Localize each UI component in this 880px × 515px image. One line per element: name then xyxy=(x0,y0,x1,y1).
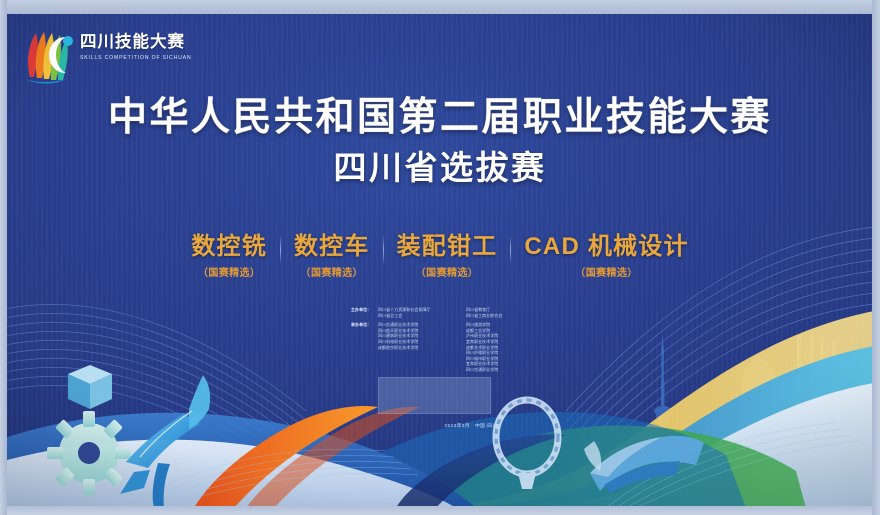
host-block: 主办单位： 四川省人力资源和社会保障厅 四川省总工会 四川省教育厅 四川省工商业… xyxy=(351,307,591,318)
arch-gate-icon xyxy=(741,356,777,489)
category-subtitle: （国赛精选） xyxy=(397,264,498,279)
tv-tower-icon xyxy=(646,333,679,501)
logo-english-name: SKILLS COMPETITION OF SICHUAN xyxy=(80,55,196,61)
cube-icon xyxy=(68,365,112,409)
blank-placeholder-panel xyxy=(378,377,491,414)
organizer-credits: 主办单位： 四川省人力资源和社会保障厅 四川省总工会 四川省教育厅 四川省工商业… xyxy=(351,307,591,377)
org-left-4: 成都航空职业技术学院 xyxy=(378,345,466,351)
sichuan-skills-feather-logo-icon xyxy=(22,23,80,85)
category-name: 装配钳工 xyxy=(397,232,498,261)
host-right-1: 四川省工商业联合会 xyxy=(466,313,554,319)
date-location-line: 2023年3月 中国·四川 xyxy=(351,423,591,429)
category-item-3: CAD 机械设计 （国赛精选） xyxy=(511,232,701,279)
main-title-line2: 四川省选拔赛 xyxy=(6,145,874,191)
organizer-label: 承办单位： xyxy=(351,322,378,372)
photo-frame-left xyxy=(0,0,7,515)
category-item-2: 装配钳工 （国赛精选） xyxy=(384,232,511,279)
skyline-silhouettes xyxy=(646,333,874,501)
wave-lines-bottom xyxy=(126,423,860,508)
host-left-column: 四川省人力资源和社会保障厅 四川省总工会 xyxy=(378,307,466,318)
host-label: 主办单位： xyxy=(351,307,378,318)
event-backdrop-board: 四川技能大赛 SKILLS COMPETITION OF SICHUAN 中华人… xyxy=(6,11,874,508)
category-list: 数控铣 （国赛精选） 数控车 （国赛精选） 装配钳工 （国赛精选） CAD 机械… xyxy=(6,232,874,279)
rocket-shuttle-icon xyxy=(120,375,210,508)
organizer-block: 承办单位： 四川交通职业技术学院 四川航天职业技术学院 四川建筑职业技术学院 四… xyxy=(351,322,591,372)
category-subtitle: （国赛精选） xyxy=(191,264,267,279)
wave-green xyxy=(386,426,806,508)
host-right-column: 四川省教育厅 四川省工商业联合会 xyxy=(466,307,554,318)
category-name: CAD 机械设计 xyxy=(524,232,688,261)
category-item-0: 数控铣 （国赛精选） xyxy=(178,232,280,279)
wave-orange xyxy=(194,406,378,508)
wave-orange-shadow xyxy=(246,407,420,508)
organizer-right-column: 四川旅游学院 成都工业学院 泸州职业技术学院 宜宾职业技术学院 成都艺术职业学院… xyxy=(466,322,554,372)
competition-logo: 四川技能大赛 SKILLS COMPETITION OF SICHUAN xyxy=(22,19,197,89)
category-subtitle: （国赛精选） xyxy=(524,264,688,279)
wave-lines-left xyxy=(6,304,306,492)
organizer-left-column: 四川交通职业技术学院 四川航天职业技术学院 四川建筑职业技术学院 四川机电职业技… xyxy=(378,322,466,372)
cable-stay-bridge-icon xyxy=(766,336,874,471)
wave-white-right xyxy=(486,383,874,508)
logo-text-block: 四川技能大赛 SKILLS COMPETITION OF SICHUAN xyxy=(80,33,196,61)
category-item-1: 数控车 （国赛精选） xyxy=(281,232,383,279)
gear-icon xyxy=(47,411,131,495)
photo-frame-right xyxy=(872,0,880,515)
high-speed-train-icon xyxy=(584,436,704,493)
wave-navy-blade xyxy=(396,434,566,508)
photo-frame-top xyxy=(0,0,880,14)
bearing-ring-icon xyxy=(496,400,558,489)
photo-frame-bottom xyxy=(0,506,880,515)
wave-left-white xyxy=(6,440,456,508)
host-left-1: 四川省总工会 xyxy=(378,313,466,319)
logo-chinese-name: 四川技能大赛 xyxy=(80,33,196,52)
title-block: 中华人民共和国第二届职业技能大赛 四川省选拔赛 xyxy=(6,93,874,191)
screenshot-root: 四川技能大赛 SKILLS COMPETITION OF SICHUAN 中华人… xyxy=(0,0,880,515)
main-title-line1: 中华人民共和国第二届职业技能大赛 xyxy=(6,93,874,143)
category-name: 数控铣 xyxy=(191,232,267,261)
category-subtitle: （国赛精选） xyxy=(294,264,370,279)
category-name: 数控车 xyxy=(294,232,370,261)
org-right-8: 四川交通职业学院 xyxy=(466,367,554,373)
